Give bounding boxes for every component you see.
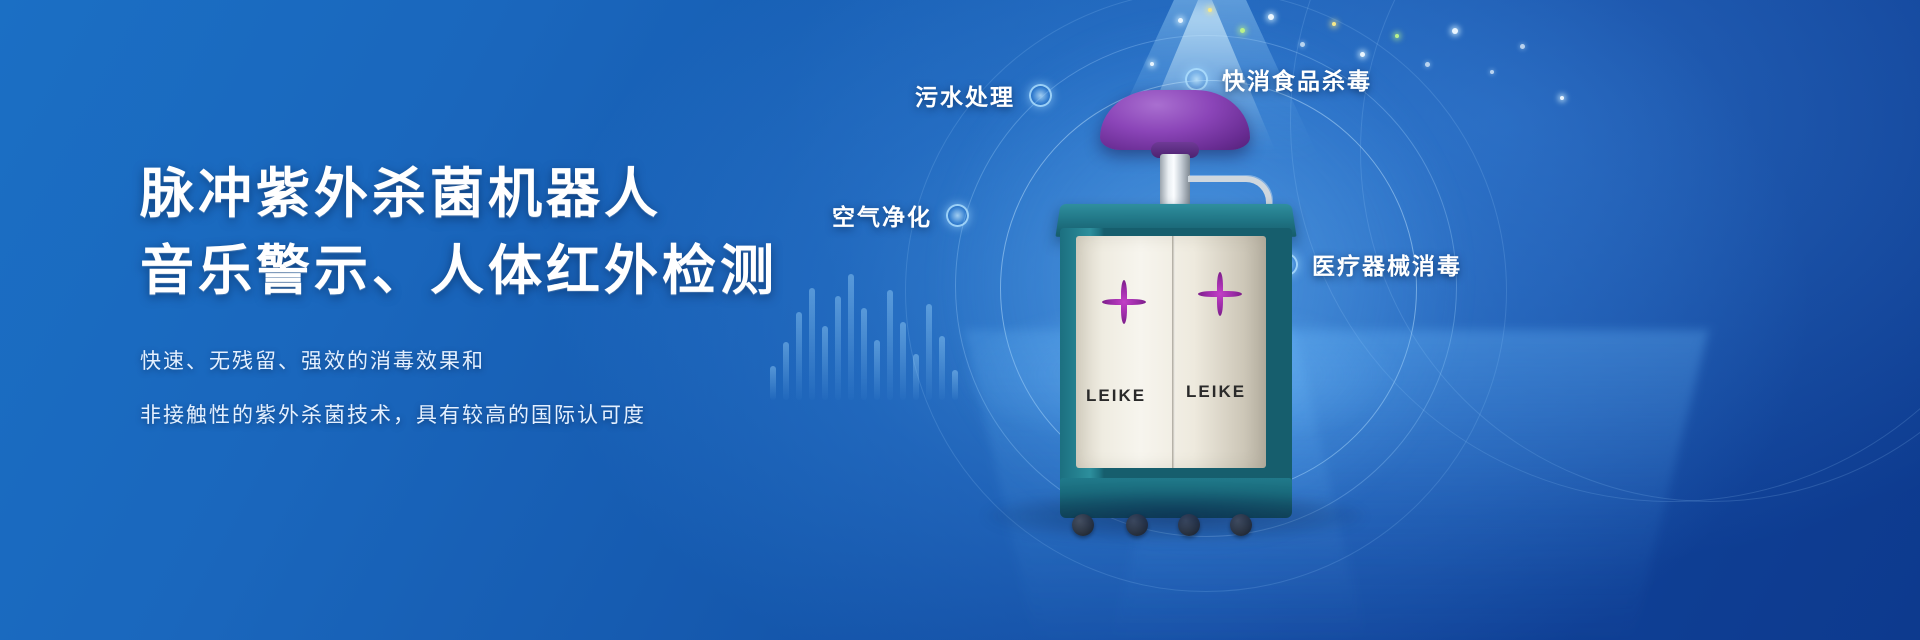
sparkle xyxy=(1395,34,1399,38)
banner-description: 快速、无残留、强效的消毒效果和 非接触性的紫外杀菌技术，具有较高的国际认可度 xyxy=(140,346,840,431)
description-line-1: 快速、无残留、强效的消毒效果和 xyxy=(140,346,840,378)
sparkle xyxy=(1268,14,1274,20)
sparkle xyxy=(1452,28,1458,34)
sparkle xyxy=(1178,18,1183,23)
headline-primary: 脉冲紫外杀菌机器人 xyxy=(140,160,840,229)
brand-label-left: LEIKE xyxy=(1086,386,1146,406)
uv-lamp-shade xyxy=(1100,90,1250,150)
callout-air-purification: 空气净化 xyxy=(832,198,969,232)
robot-panel-seam xyxy=(1172,236,1175,468)
callout-marker-icon xyxy=(1185,68,1208,91)
sparkle xyxy=(1150,62,1154,66)
uv-sparkle-icon xyxy=(1198,272,1242,316)
sparkle xyxy=(1300,42,1305,47)
callout-label: 空气净化 xyxy=(832,198,932,232)
brand-label-right: LEIKE xyxy=(1186,382,1246,402)
sparkle xyxy=(1425,62,1430,67)
description-line-2: 非接触性的紫外杀菌技术，具有较高的国际认可度 xyxy=(140,400,840,432)
sparkle xyxy=(1360,52,1365,57)
sparkle xyxy=(1560,96,1564,100)
banner-copy: 脉冲紫外杀菌机器人 音乐警示、人体红外检测 快速、无残留、强效的消毒效果和 非接… xyxy=(140,160,840,453)
callout-label: 医疗器械消毒 xyxy=(1312,247,1462,281)
uv-sparkle-icon xyxy=(1102,280,1146,324)
sparkle xyxy=(1208,8,1212,12)
sparkle xyxy=(1240,28,1245,33)
headline-secondary: 音乐警示、人体红外检测 xyxy=(140,237,840,306)
robot-front-panel xyxy=(1076,236,1266,468)
robot-shadow xyxy=(985,490,1365,542)
sparkle xyxy=(1332,22,1336,26)
sparkle xyxy=(1520,44,1525,49)
callout-label: 污水处理 xyxy=(915,78,1015,112)
promo-banner: 脉冲紫外杀菌机器人 音乐警示、人体红外检测 快速、无残留、强效的消毒效果和 非接… xyxy=(0,0,1920,640)
uv-disinfection-robot: LEIKE LEIKE xyxy=(1020,90,1320,510)
callout-marker-icon xyxy=(946,204,969,227)
sparkle xyxy=(1490,70,1494,74)
